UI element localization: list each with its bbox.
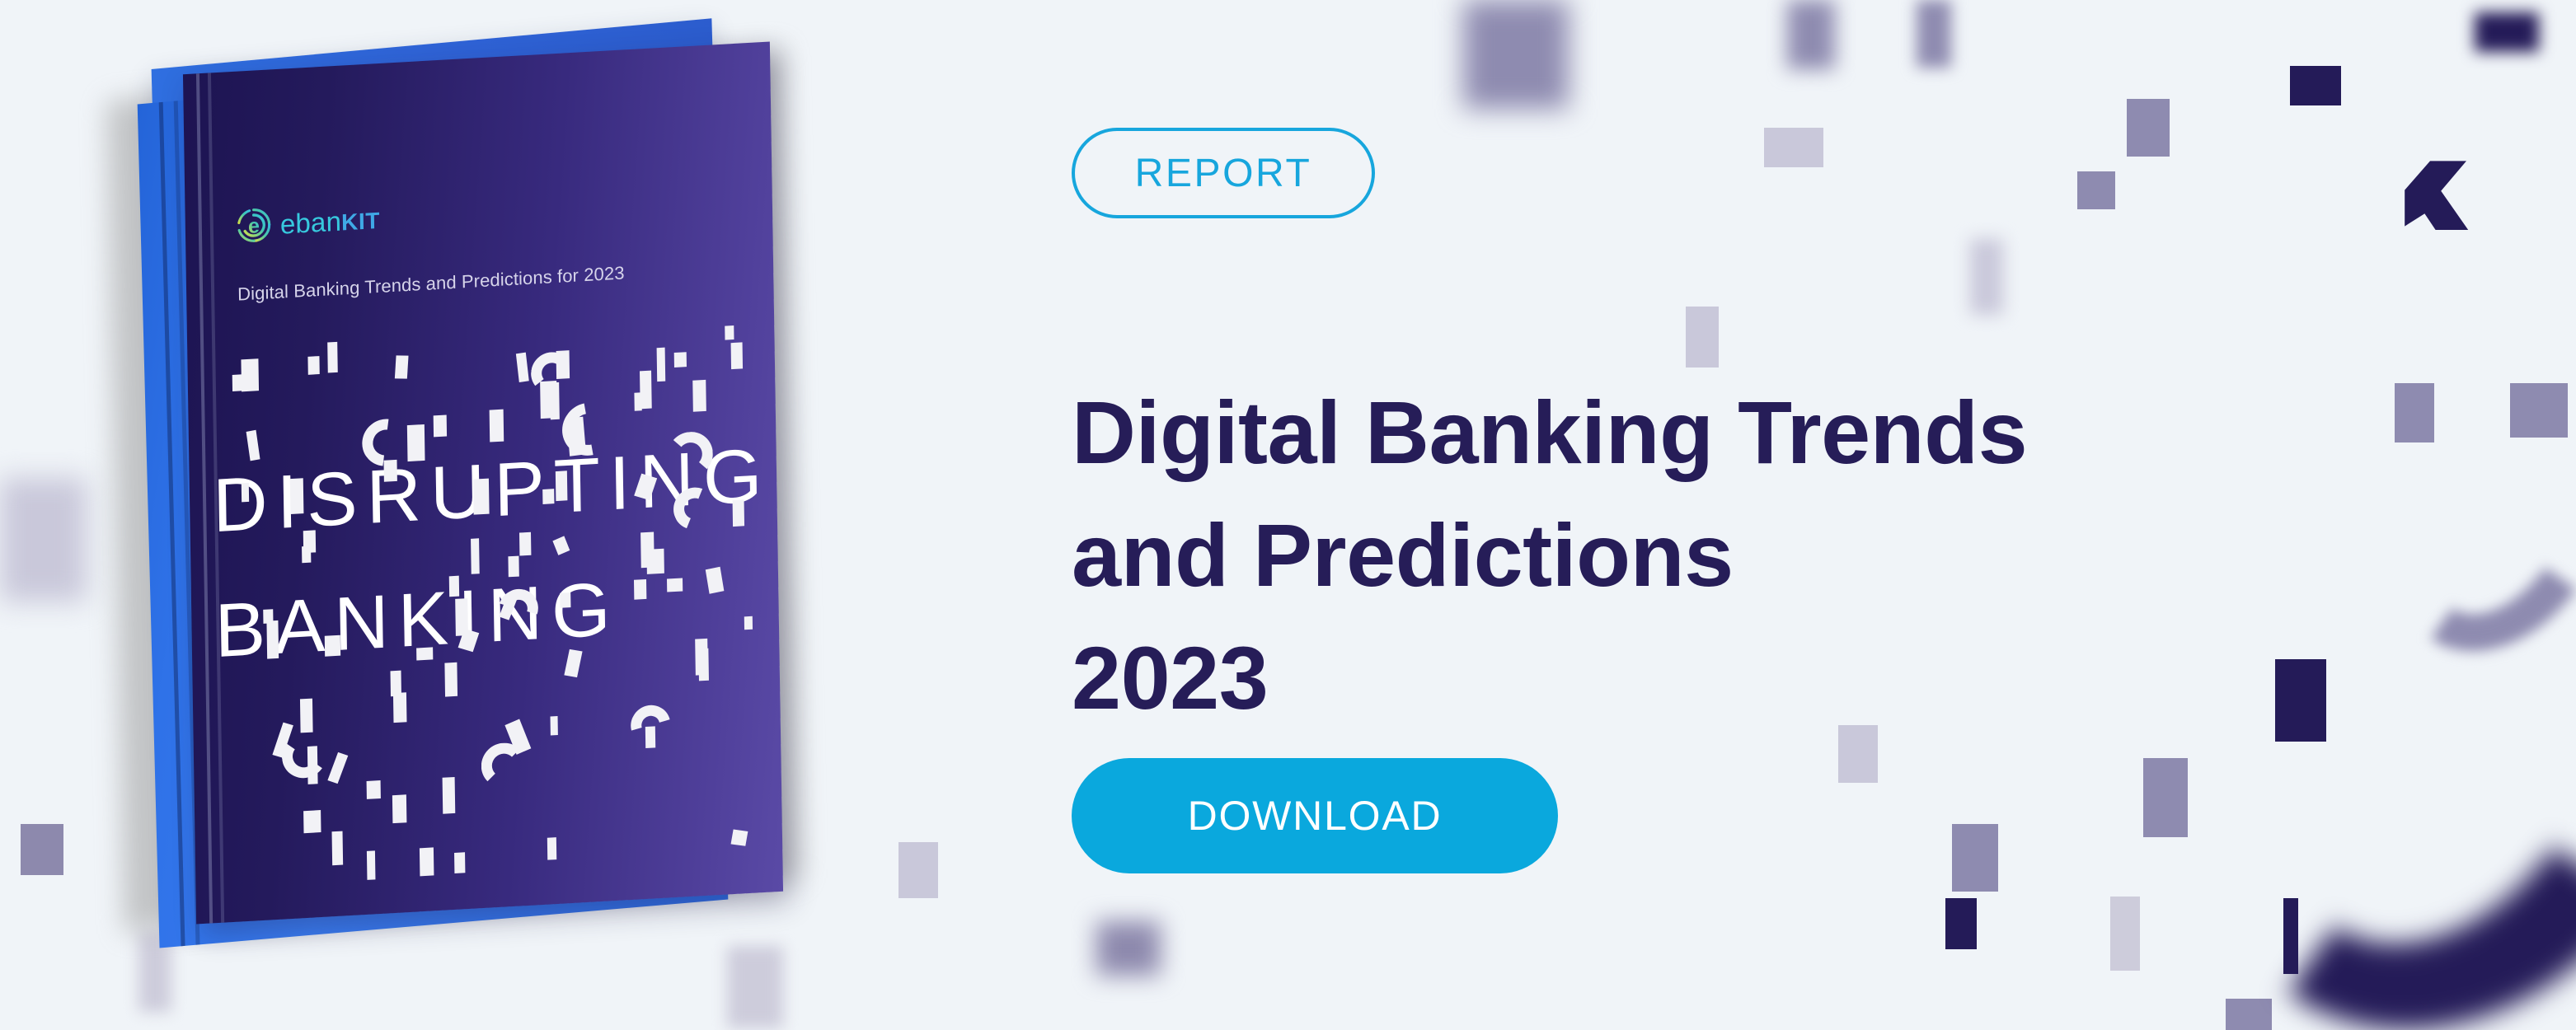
cover-fragment-square [367, 780, 381, 799]
cover-content: e ebanKIT Digital Banking Trends and Pre… [183, 42, 783, 925]
decorative-arc [2288, 770, 2576, 1030]
cover-fragment-square [516, 353, 529, 383]
page-title-line-3: 2023 [1072, 616, 2275, 739]
cover-fragment-square [634, 392, 642, 411]
logo-word-secondary: KIT [341, 207, 380, 235]
cover-fragment-square [699, 648, 710, 681]
cover-fragment-square [667, 578, 683, 592]
cover-fragment-square [640, 370, 651, 409]
cover-fragment-square [303, 810, 321, 834]
ebankit-wordmark: ebanKIT [280, 204, 381, 237]
decorative-arc [2431, 537, 2576, 691]
cover-fragment-square [744, 616, 753, 630]
decorative-square [899, 842, 938, 898]
cover-fragment-square [725, 325, 734, 340]
cover-fragment-square [393, 692, 407, 723]
cover-fragment-square [730, 829, 748, 845]
cover-fragment-square [634, 579, 647, 600]
cover-fragment-square [420, 848, 434, 877]
cover-fragment-square [473, 479, 490, 514]
cover-fragment-square [266, 620, 279, 659]
cover-fragment-square [645, 726, 655, 748]
cover-fragment-square [519, 532, 532, 556]
cover-fragment-square [308, 356, 320, 375]
cover-fragment-square [307, 746, 318, 784]
cover-fragment-square [656, 347, 665, 382]
cover-fragment-square [733, 499, 744, 527]
report-badge-label: REPORT [1135, 151, 1312, 196]
cover-fragment-square [300, 699, 312, 733]
download-button-label: DOWNLOAD [1188, 792, 1443, 840]
page-title: Digital Banking Trendsand Predictions202… [1072, 371, 2275, 739]
ebankit-e-circle-icon: e [235, 205, 274, 246]
cover-fragment-square [325, 635, 340, 656]
decorative-square [21, 824, 63, 875]
cover-subtitle: Digital Banking Trends and Predictions f… [237, 262, 625, 305]
cover-fragment-square [444, 662, 457, 697]
book-front-cover: e ebanKIT Digital Banking Trends and Pre… [183, 42, 783, 925]
book-mockup: e ebanKIT Digital Banking Trends and Pre… [66, 25, 874, 948]
cover-fragment-square [508, 555, 519, 577]
logo-word-primary: eban [280, 205, 342, 239]
cover-fragment-square [443, 777, 456, 814]
cover-fragment-square [391, 670, 401, 695]
cover-fragment-square [289, 478, 303, 514]
cover-fragment-square [692, 379, 706, 411]
download-button[interactable]: DOWNLOAD [1072, 758, 1558, 873]
cover-fragment-square [434, 414, 448, 437]
cover-fragment-square [640, 532, 655, 569]
cover-fragment-square [730, 343, 742, 370]
cover-fragment-square [332, 831, 344, 866]
cover-fragment-square [242, 483, 249, 503]
cover-fragment-square [560, 592, 570, 608]
cover-fragment-square [416, 647, 434, 660]
cover-fragment-square [327, 342, 338, 372]
cover-fragment-square [541, 381, 557, 419]
promo-banner: e ebanKIT Digital Banking Trends and Pre… [0, 0, 2576, 1030]
cover-fragment-square [242, 358, 259, 391]
cover-fragment-square [328, 752, 349, 784]
k-logo-glyph-icon [2403, 148, 2494, 243]
decorative-square [2395, 383, 2434, 442]
cover-fragment-square [264, 609, 274, 624]
promo-content: REPORT Digital Banking Trendsand Predict… [1072, 0, 2308, 1030]
cover-fragment-square [556, 471, 567, 501]
cover-fragment-square [454, 852, 465, 873]
cover-fragment-square [471, 538, 479, 574]
cover-fragment-square [556, 350, 570, 379]
ebankit-logo: e ebanKIT [235, 199, 381, 246]
decorative-square [2475, 12, 2539, 52]
cover-fragment-square [566, 416, 585, 456]
cover-fragment-square [246, 430, 260, 461]
page-title-line-2: and Predictions [1072, 494, 2275, 616]
cover-fragment-square [674, 352, 687, 368]
cover-fragment-square [551, 716, 559, 735]
decorative-square [2510, 383, 2568, 438]
cover-fragment-square [392, 795, 406, 824]
cover-fragment-square [367, 851, 375, 880]
page-title-line-1: Digital Banking Trends [1072, 371, 2275, 494]
cover-fragment-square [547, 837, 557, 860]
cover-fragment-square [449, 576, 460, 597]
svg-text:e: e [248, 214, 260, 238]
report-badge[interactable]: REPORT [1072, 128, 1375, 218]
cover-fragment-square [542, 489, 554, 504]
decorative-square [727, 946, 783, 1028]
cover-fragment-square [489, 410, 503, 442]
cover-fragment-square [302, 545, 312, 563]
cover-fragment-square [395, 356, 409, 379]
